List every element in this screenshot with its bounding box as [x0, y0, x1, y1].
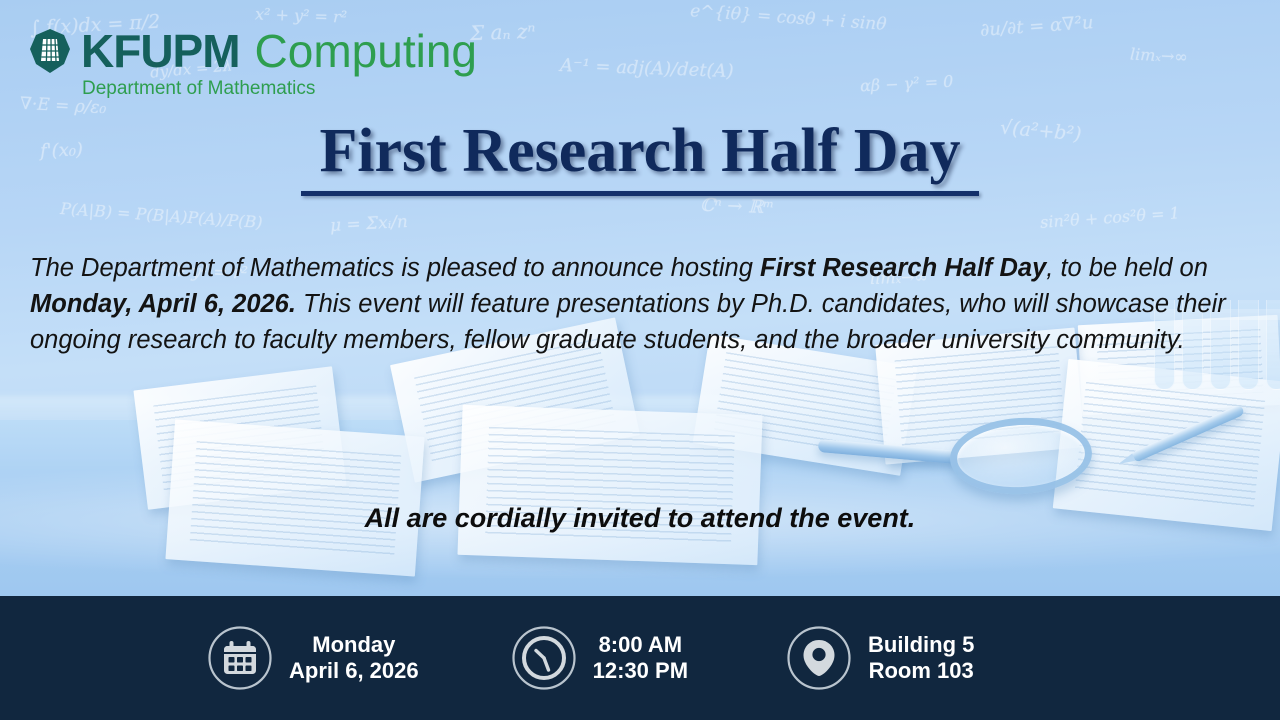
page-title-block: First Research Half Day	[0, 118, 1280, 196]
paper-sheet	[165, 419, 424, 576]
footer-item-date: Monday April 6, 2026	[207, 625, 419, 691]
logo-computing-text: Computing	[255, 28, 477, 74]
body-bold-event-name: First Research Half Day	[760, 254, 1046, 282]
announcement-paragraph: The Department of Mathematics is pleased…	[30, 250, 1258, 359]
title-underline	[301, 191, 979, 196]
page-title: First Research Half Day	[319, 118, 960, 185]
location-pin-icon	[786, 625, 852, 691]
footer-time-line2: 12:30 PM	[593, 658, 688, 684]
paper-sheet	[457, 405, 762, 565]
footer-item-location: Building 5 Room 103	[786, 625, 974, 691]
calendar-icon	[207, 625, 273, 691]
clock-icon	[511, 625, 577, 691]
kfupm-logo: KFUPM Computing Department of Mathematic…	[28, 28, 477, 100]
footer-location-line1: Building 5	[868, 632, 974, 658]
kfupm-tower-icon	[28, 28, 72, 74]
body-part-2: , to be held on	[1046, 254, 1208, 282]
logo-department-text: Department of Mathematics	[82, 78, 477, 100]
footer-date-line2: April 6, 2026	[289, 658, 419, 684]
footer-location-line2: Room 103	[868, 658, 974, 684]
footer-item-time: 8:00 AM 12:30 PM	[511, 625, 688, 691]
invitation-text: All are cordially invited to attend the …	[0, 503, 1280, 534]
footer-date-line1: Monday	[289, 632, 419, 658]
event-poster: ∫ f(x)dx = π/2 x² + y² = r² Σ aₙ zⁿ e^{i…	[0, 0, 1280, 720]
body-part-1: The Department of Mathematics is pleased…	[30, 254, 760, 282]
body-bold-date: Monday, April 6, 2026.	[30, 290, 296, 318]
logo-kfupm-text: KFUPM	[81, 28, 240, 74]
footer-time-line1: 8:00 AM	[593, 632, 688, 658]
footer-bar: Monday April 6, 2026 8:00 AM 12:30 PM	[0, 596, 1280, 720]
